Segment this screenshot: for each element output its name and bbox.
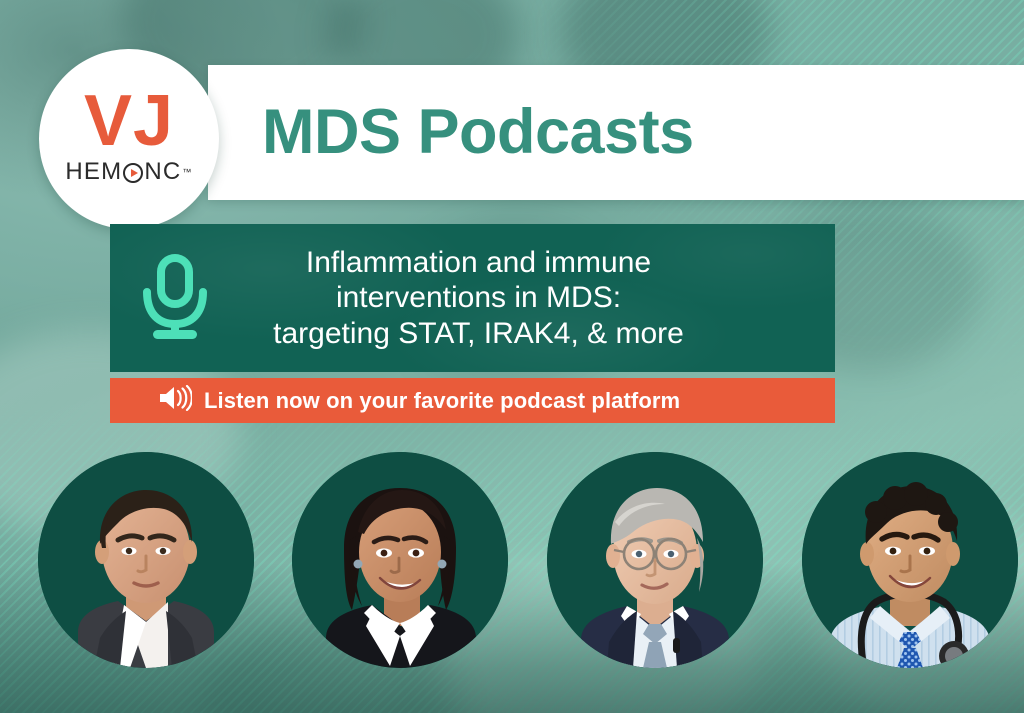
speaker-portrait[interactable] xyxy=(292,452,508,668)
logo-nc-text: NC xyxy=(144,158,181,186)
speaker-portrait[interactable] xyxy=(802,452,1018,668)
logo-hem-text: HEM xyxy=(65,158,122,186)
listen-now-label: Listen now on your favorite podcast plat… xyxy=(204,388,680,414)
episode-title-line: targeting STAT, IRAK4, & more xyxy=(240,316,717,351)
vj-hemonc-logo[interactable]: VJ HEM NC ™ xyxy=(39,49,219,229)
listen-now-banner[interactable]: Listen now on your favorite podcast plat… xyxy=(110,378,835,423)
podcast-promo-graphic: MDS Podcasts VJ HEM NC ™ Inflammation an… xyxy=(0,0,1024,713)
logo-trademark: ™ xyxy=(182,167,192,177)
play-triangle-icon xyxy=(123,163,143,183)
speaker-portrait[interactable] xyxy=(38,452,254,668)
speaker-volume-icon xyxy=(158,385,192,416)
episode-title-line: interventions in MDS: xyxy=(240,280,717,315)
speaker-portrait[interactable] xyxy=(547,452,763,668)
page-title: MDS Podcasts xyxy=(262,65,962,200)
microphone-icon xyxy=(110,254,240,342)
episode-panel: Inflammation and immune interventions in… xyxy=(110,224,835,372)
episode-title-line: Inflammation and immune xyxy=(240,245,717,280)
logo-hemonc-text: HEM NC ™ xyxy=(65,158,192,186)
episode-title: Inflammation and immune interventions in… xyxy=(240,245,835,350)
logo-vj-text: VJ xyxy=(84,88,174,154)
